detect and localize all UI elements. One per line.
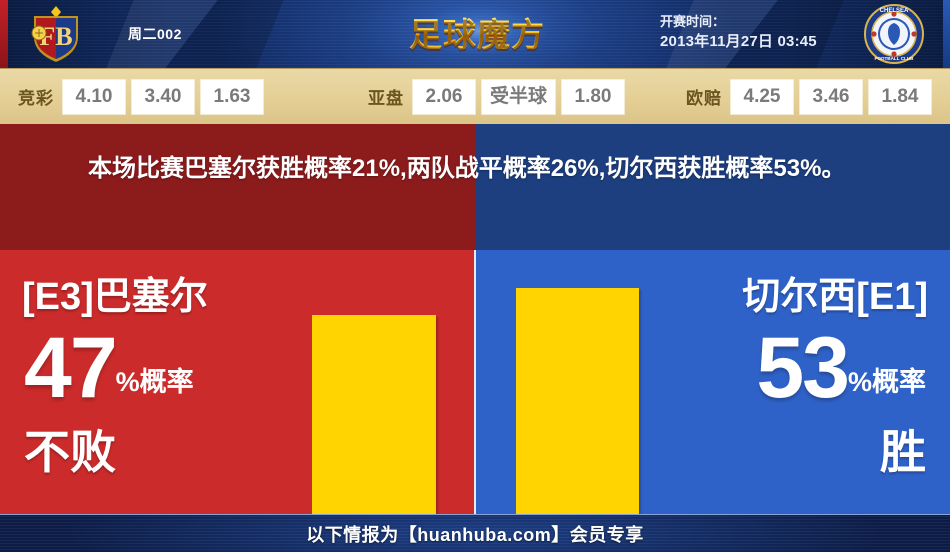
kickoff-time: 2013年11月27日 03:45 <box>660 32 817 52</box>
away-stats: 切尔西[E1] 53 %概率 胜 <box>642 250 942 514</box>
odds-value[interactable]: 1.84 <box>869 80 931 114</box>
probability-chart: [E3]巴塞尔 47 %概率 不败 切尔西[E1] 53 %概率 胜 <box>0 250 950 514</box>
away-percent-value: 53 <box>756 325 848 411</box>
away-percent-unit: %概率 <box>848 362 926 411</box>
odds-group-jingcai: 竞彩 4.10 3.40 1.63 <box>18 69 263 124</box>
kickoff-label: 开赛时间： <box>660 12 817 32</box>
away-outcome-label: 胜 <box>626 425 926 479</box>
panel-divider <box>474 250 476 514</box>
odds-value[interactable]: 1.63 <box>201 80 263 114</box>
home-percent-row: 47 %概率 <box>24 325 324 411</box>
odds-value[interactable]: 2.06 <box>413 80 475 114</box>
header-right-accent <box>943 0 950 68</box>
svg-text:CHELSEA: CHELSEA <box>880 8 909 14</box>
round-label: 周二002 <box>128 24 182 44</box>
header-left-accent <box>0 0 8 68</box>
odds-group-title: 竞彩 <box>18 84 54 109</box>
home-team-name: [E3]巴塞尔 <box>22 275 322 319</box>
footer-bar: 以下情报为【huanhuba.com】会员专享 <box>0 514 950 552</box>
summary-text: 本场比赛巴塞尔获胜概率21%,两队战平概率26%,切尔西获胜概率53%。 <box>88 148 863 189</box>
odds-group-title: 亚盘 <box>368 84 404 109</box>
odds-bar: 竞彩 4.10 3.40 1.63 亚盘 2.06 受半球 1.80 欧赔 4.… <box>0 68 950 125</box>
site-logo: 足球魔方 <box>382 2 572 66</box>
summary-band: 本场比赛巴塞尔获胜概率21%,两队战平概率26%,切尔西获胜概率53%。 <box>0 124 950 250</box>
handicap-value[interactable]: 受半球 <box>482 80 555 114</box>
home-outcome-label: 不败 <box>24 425 324 479</box>
away-percent-row: 53 %概率 <box>626 325 926 411</box>
odds-value[interactable]: 4.10 <box>63 80 125 114</box>
away-probability-bar <box>516 288 639 514</box>
home-percent-value: 47 <box>24 325 116 411</box>
odds-value[interactable]: 3.40 <box>132 80 194 114</box>
home-percent-unit: %概率 <box>116 362 194 411</box>
kickoff-info: 开赛时间： 2013年11月27日 03:45 <box>660 12 817 52</box>
odds-value[interactable]: 1.80 <box>562 80 624 114</box>
header-bar: FB CHELSEA FOOTBALL CLUB 周二002 <box>0 0 950 68</box>
svg-text:FOOTBALL CLUB: FOOTBALL CLUB <box>875 56 915 61</box>
odds-group-title: 欧赔 <box>686 84 722 109</box>
footer-text: 以下情报为【huanhuba.com】会员专享 <box>306 521 644 547</box>
away-team-name: 切尔西[E1] <box>628 275 928 319</box>
home-probability-bar <box>312 315 436 514</box>
odds-value[interactable]: 3.46 <box>800 80 862 114</box>
home-stats: [E3]巴塞尔 47 %概率 不败 <box>8 250 308 514</box>
match-probability-infographic: FB CHELSEA FOOTBALL CLUB 周二002 <box>0 0 950 552</box>
odds-group-yapan: 亚盘 2.06 受半球 1.80 <box>368 69 624 124</box>
basel-crest-icon: FB <box>25 3 87 65</box>
odds-group-oupei: 欧赔 4.25 3.46 1.84 <box>686 69 931 124</box>
chelsea-crest-icon: CHELSEA FOOTBALL CLUB <box>863 3 925 65</box>
odds-value[interactable]: 4.25 <box>731 80 793 114</box>
logo-text: 足球魔方 <box>382 8 572 56</box>
